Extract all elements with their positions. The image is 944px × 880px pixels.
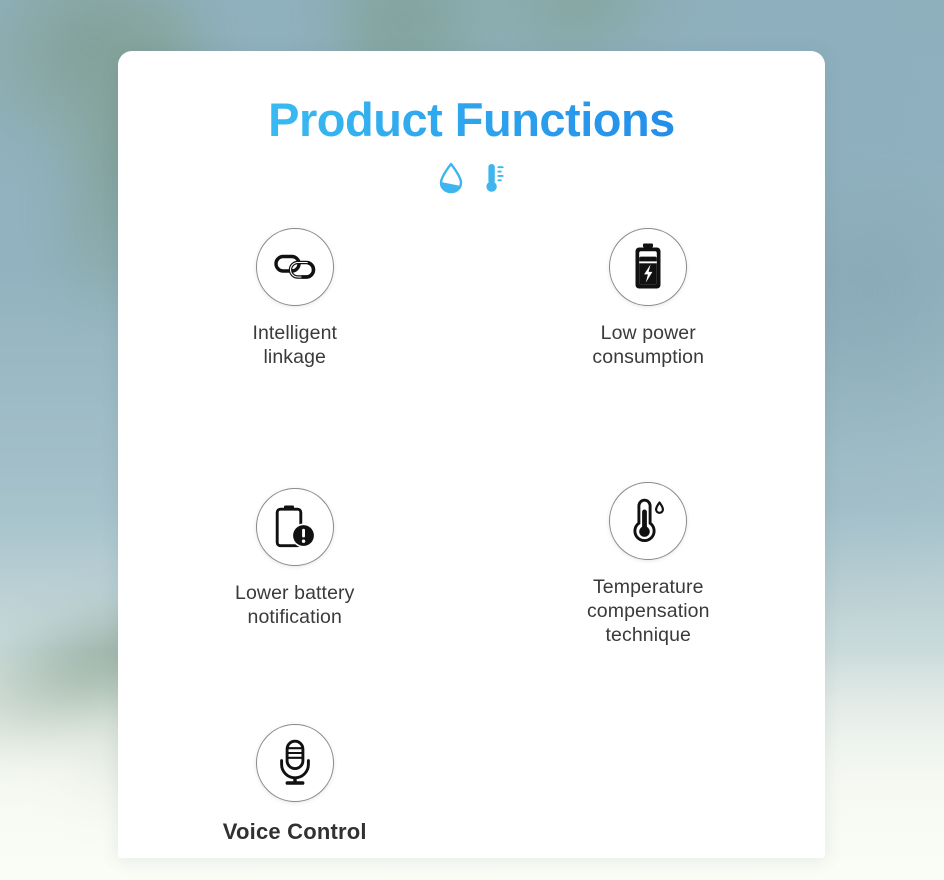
feature-item-lower-battery-notification[interactable]: Lower battery notification bbox=[118, 370, 472, 648]
feature-label-line: Lower battery bbox=[235, 582, 354, 606]
feature-label-line: Voice Control bbox=[223, 818, 367, 845]
feature-label-line: consumption bbox=[592, 346, 704, 370]
thermometer-drop-icon bbox=[609, 482, 687, 560]
header-icon-row bbox=[118, 162, 825, 194]
feature-item-voice-control[interactable]: Voice Control bbox=[118, 648, 472, 845]
thermometer-icon bbox=[482, 162, 506, 194]
feature-label: Voice Control bbox=[223, 818, 367, 845]
microphone-icon bbox=[256, 724, 334, 802]
product-functions-card: Product Functions bbox=[118, 51, 825, 858]
feature-item-intelligent-linkage[interactable]: Intelligent linkage bbox=[118, 222, 472, 370]
feature-item-low-power-consumption[interactable]: Low power consumption bbox=[472, 222, 826, 370]
feature-label: Lower battery notification bbox=[235, 582, 354, 630]
feature-label-line: Temperature bbox=[587, 576, 710, 600]
page-title: Product Functions bbox=[118, 95, 825, 144]
feature-label-line: Low power bbox=[592, 322, 704, 346]
battery-alert-icon bbox=[256, 488, 334, 566]
feature-label-line: linkage bbox=[252, 346, 337, 370]
feature-item-temperature-compensation[interactable]: Temperature compensation technique bbox=[472, 370, 826, 648]
feature-grid-empty-cell bbox=[472, 648, 826, 845]
feature-label: Temperature compensation technique bbox=[587, 576, 710, 648]
feature-label-line: compensation bbox=[587, 600, 710, 624]
feature-grid: Intelligent linkage Low power consumptio… bbox=[118, 222, 825, 845]
water-drop-icon bbox=[438, 162, 464, 194]
feature-label: Intelligent linkage bbox=[252, 322, 337, 370]
feature-label-line: Intelligent bbox=[252, 322, 337, 346]
feature-label-line: notification bbox=[235, 606, 354, 630]
battery-charge-icon bbox=[609, 228, 687, 306]
feature-label-line: technique bbox=[587, 624, 710, 648]
feature-label: Low power consumption bbox=[592, 322, 704, 370]
chain-link-icon bbox=[256, 228, 334, 306]
